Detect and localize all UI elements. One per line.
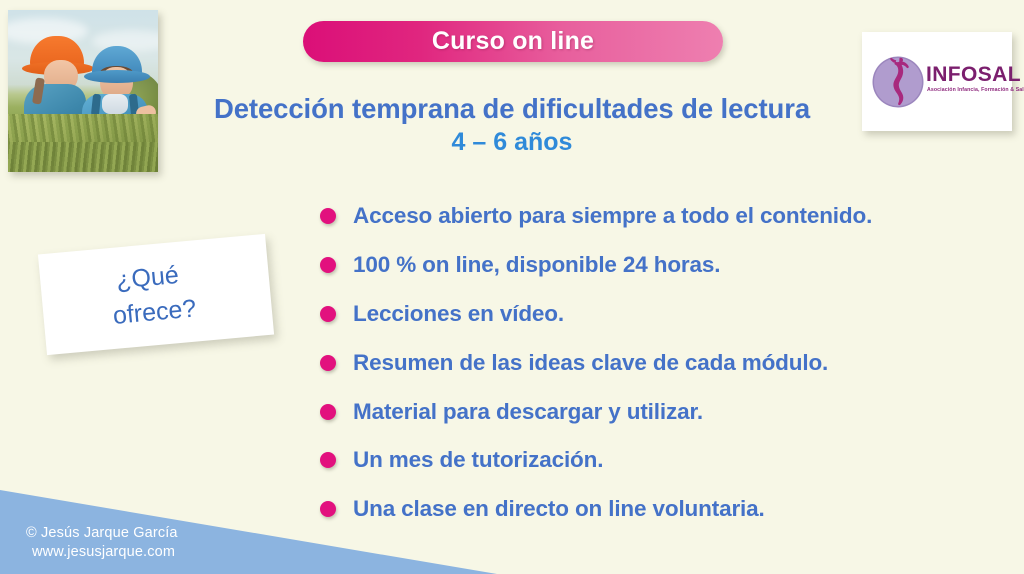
infosal-wordmark: INFOSAL [926,64,1021,85]
list-item-label: Una clase en directo on line voluntaria. [353,496,765,522]
list-item-label: 100 % on line, disponible 24 horas. [353,252,720,278]
list-item: Una clase en directo on line voluntaria. [320,485,872,534]
list-item-label: Lecciones en vídeo. [353,301,564,327]
features-list: Acceso abierto para siempre a todo el co… [320,192,872,534]
footer-copyright: © Jesús Jarque García [26,524,178,543]
title-main: Detección temprana de dificultades de le… [0,92,1024,125]
list-item: Resumen de las ideas clave de cada módul… [320,338,872,387]
blue-hat-brim [84,70,150,83]
page-title: Detección temprana de dificultades de le… [0,92,1024,158]
question-card: ¿Qué ofrece? [38,234,274,355]
bullet-dot-icon [320,257,336,273]
title-subtitle: 4 – 6 años [0,127,1024,158]
footer-website: www.jesusjarque.com [26,543,178,562]
bullet-dot-icon [320,355,336,371]
bullet-dot-icon [320,306,336,322]
footer-credit: © Jesús Jarque García www.jesusjarque.co… [26,524,178,562]
bullet-dot-icon [320,208,336,224]
course-banner-label: Curso on line [432,27,594,56]
course-banner: Curso on line [303,21,723,62]
list-item: Material para descargar y utilizar. [320,387,872,436]
bullet-dot-icon [320,501,336,517]
bullet-dot-icon [320,452,336,468]
list-item-label: Acceso abierto para siempre a todo el co… [353,203,872,229]
list-item-label: Material para descargar y utilizar. [353,399,703,425]
list-item-label: Un mes de tutorización. [353,447,603,473]
question-card-text: ¿Qué ofrece? [39,250,272,340]
list-item: 100 % on line, disponible 24 horas. [320,241,872,290]
slide-canvas: © Jesús Jarque García www.jesusjarque.co… [0,0,1024,574]
list-item: Lecciones en vídeo. [320,290,872,339]
bullet-dot-icon [320,404,336,420]
list-item: Un mes de tutorización. [320,436,872,485]
list-item-label: Resumen de las ideas clave de cada módul… [353,350,828,376]
list-item: Acceso abierto para siempre a todo el co… [320,192,872,241]
